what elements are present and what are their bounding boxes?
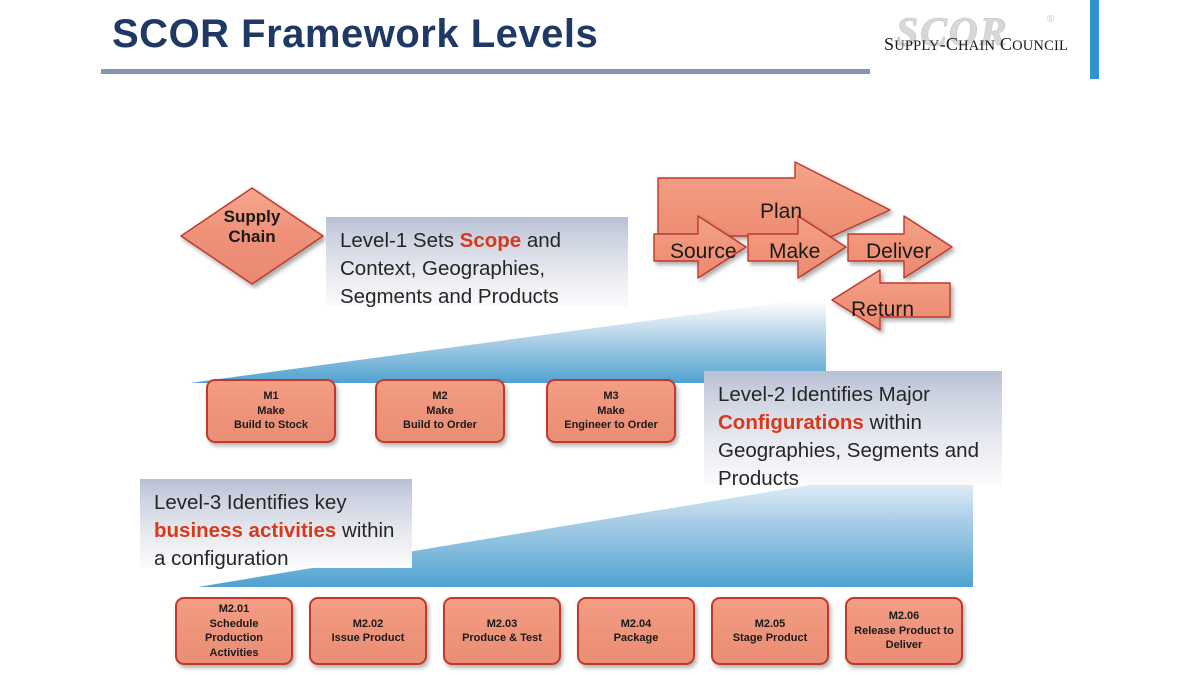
process-box-m2-line2: Make: [403, 404, 477, 419]
process-box-m1[interactable]: M1 Make Build to Stock: [206, 379, 336, 443]
process-box-m1-line3: Build to Stock: [234, 418, 308, 433]
logo-wordmark-part-3: HAIN: [958, 38, 995, 54]
logo-wordmark-part-4: C: [995, 34, 1012, 54]
process-box-m2-04[interactable]: M2.04 Package: [577, 597, 695, 665]
process-box-m3-code: M3: [564, 389, 658, 404]
process-box-m2-code: M2: [403, 389, 477, 404]
level-1-description-box: Level-1 Sets Scope and Context, Geograph…: [326, 217, 628, 307]
page-title: SCOR Framework Levels: [112, 12, 598, 57]
process-box-m1-code: M1: [234, 389, 308, 404]
level-2-segment-0: Level-2 Identifies Major: [718, 383, 930, 406]
level-3-segment-1: business activities: [154, 519, 336, 542]
process-box-m2-06-label: Release Product to Deliver: [852, 624, 956, 653]
process-box-m2-04-label: Package: [614, 631, 659, 646]
process-box-m2-05-code: M2.05: [733, 617, 808, 632]
arrow-deliver: [848, 216, 952, 278]
supply-chain-diamond: [176, 183, 328, 289]
logo-wordmark-part-5: OUNCIL: [1012, 38, 1068, 54]
level-2-segment-1: Configurations: [718, 411, 864, 434]
arrow-return: [832, 270, 950, 330]
process-box-m2-01-label: Schedule Production Activities: [182, 617, 286, 661]
process-box-m2-01[interactable]: M2.01 Schedule Production Activities: [175, 597, 293, 665]
logo-wordmark: SUPPLY-CHAIN COUNCIL: [884, 34, 1068, 55]
logo-wordmark-part-0: S: [884, 34, 894, 54]
process-box-m2-03-code: M2.03: [462, 617, 542, 632]
registered-trademark-icon: ®: [1047, 14, 1054, 25]
level-3-segment-0: Level-3 Identifies key: [154, 491, 347, 514]
scor-process-arrow-group: [650, 158, 1000, 340]
process-box-m2-05[interactable]: M2.05 Stage Product: [711, 597, 829, 665]
process-box-m2-05-label: Stage Product: [733, 631, 808, 646]
level-1-segment-1: Scope: [460, 229, 522, 252]
process-box-m2-01-code: M2.01: [182, 602, 286, 617]
process-box-m3-line2: Make: [564, 404, 658, 419]
title-underline-rule: [101, 69, 870, 74]
level-2-description-box: Level-2 Identifies Major Configurations …: [704, 371, 1002, 485]
logo-wordmark-part-2: -C: [940, 34, 958, 54]
process-box-m2-03-label: Produce & Test: [462, 631, 542, 646]
process-box-m2-04-code: M2.04: [614, 617, 659, 632]
supply-chain-council-logo: SCOR ® SUPPLY-CHAIN COUNCIL: [884, 8, 1074, 70]
process-box-m2-02-label: Issue Product: [332, 631, 405, 646]
process-box-m2[interactable]: M2 Make Build to Order: [375, 379, 505, 443]
process-box-m2-02[interactable]: M2.02 Issue Product: [309, 597, 427, 665]
process-box-m2-06-code: M2.06: [852, 609, 956, 624]
process-box-m2-02-code: M2.02: [332, 617, 405, 632]
accent-bar: [1090, 0, 1099, 79]
process-box-m3[interactable]: M3 Make Engineer to Order: [546, 379, 676, 443]
process-box-m2-03[interactable]: M2.03 Produce & Test: [443, 597, 561, 665]
logo-wordmark-part-1: UPPLY: [894, 38, 939, 54]
level-3-description-box: Level-3 Identifies key business activiti…: [140, 479, 412, 568]
slide-canvas: SCOR Framework Levels SCOR ® SUPPLY-CHAI…: [0, 0, 1200, 675]
process-box-m3-line3: Engineer to Order: [564, 418, 658, 433]
process-box-m1-line2: Make: [234, 404, 308, 419]
process-box-m2-line3: Build to Order: [403, 418, 477, 433]
level-1-segment-0: Level-1 Sets: [340, 229, 460, 252]
process-box-m2-06[interactable]: M2.06 Release Product to Deliver: [845, 597, 963, 665]
